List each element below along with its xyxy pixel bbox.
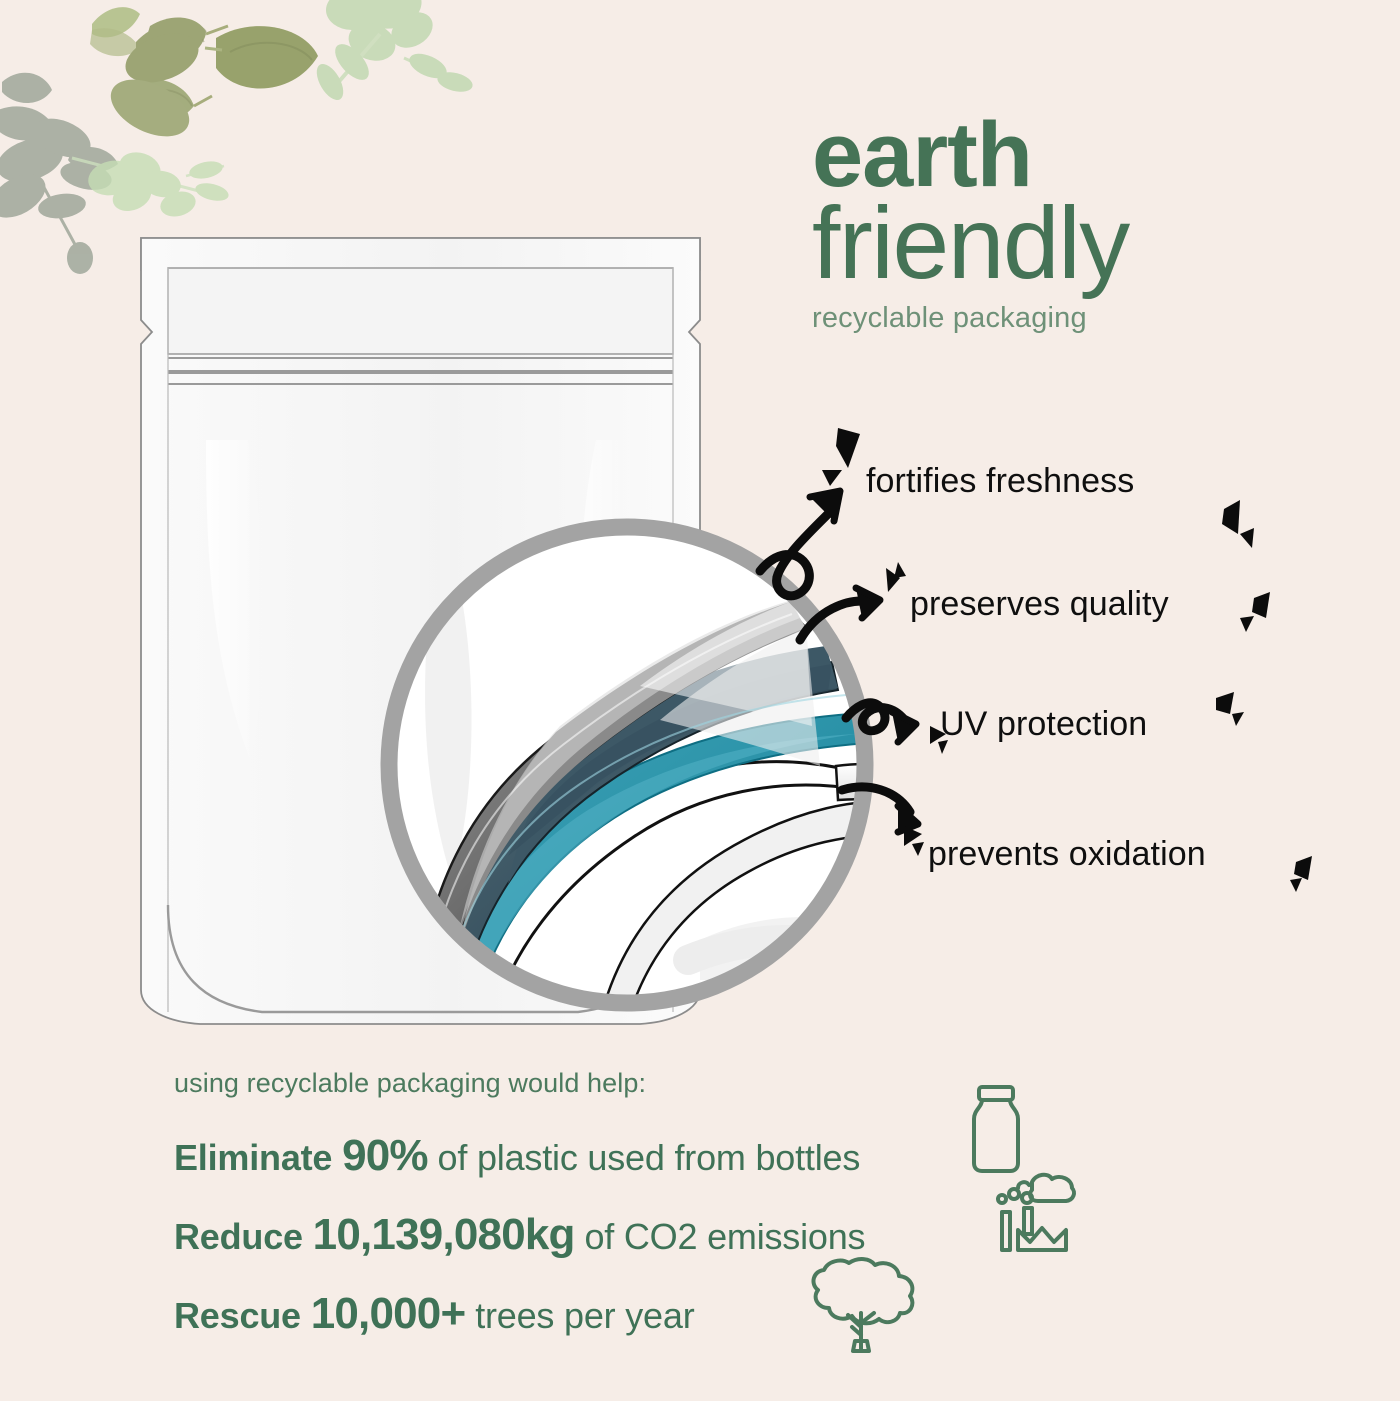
stat-row-rescue: Rescue 10,000+ trees per year <box>174 1289 695 1339</box>
stat-value: 10,139,080kg <box>313 1210 575 1259</box>
stat-rest: of CO2 emissions <box>584 1216 865 1257</box>
feature-label-preserves-quality: preserves quality <box>910 585 1169 624</box>
stats-lead-text: using recyclable packaging would help: <box>174 1068 646 1099</box>
infographic-canvas: earth friendly recyclable packaging fort… <box>0 0 1400 1401</box>
stat-row-reduce: Reduce 10,139,080kg of CO2 emissions <box>174 1210 865 1260</box>
stat-rest: of plastic used from bottles <box>438 1137 861 1178</box>
feature-label-prevents-oxidation: prevents oxidation <box>928 835 1206 874</box>
stat-row-eliminate: Eliminate 90% of plastic used from bottl… <box>174 1131 860 1181</box>
stat-verb: Rescue <box>174 1295 301 1336</box>
stat-value: 90% <box>342 1131 428 1180</box>
stat-rest: trees per year <box>475 1295 694 1336</box>
headline-line2: friendly <box>812 194 1372 294</box>
bottle-icon-wrap <box>965 1083 1027 1180</box>
stat-verb: Reduce <box>174 1216 303 1257</box>
stat-verb: Eliminate <box>174 1137 332 1178</box>
factory-smoke-icon-wrap <box>988 1168 1080 1261</box>
tree-icon-wrap <box>800 1255 922 1368</box>
factory-smoke-icon <box>988 1168 1080 1256</box>
headline-block: earth friendly recyclable packaging <box>812 112 1372 335</box>
bottle-icon <box>965 1083 1027 1175</box>
tree-icon <box>800 1255 922 1363</box>
feature-label-uv-protection: UV protection <box>940 705 1147 744</box>
headline-subtitle: recyclable packaging <box>812 302 1372 335</box>
stat-value: 10,000+ <box>311 1289 466 1338</box>
feature-label-fortifies-freshness: fortifies freshness <box>866 462 1134 501</box>
